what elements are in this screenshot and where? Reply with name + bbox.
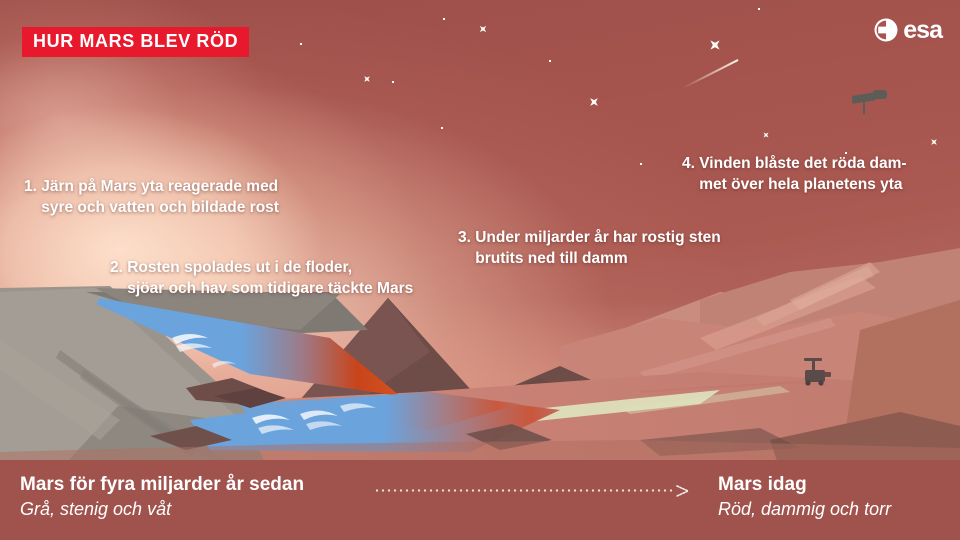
- caption-right: Mars idag Röd, dammig och torr: [718, 472, 891, 522]
- step-label-4: 4. Vinden blåste det röda dam- met över …: [682, 153, 907, 195]
- step-4-line-1: 4. Vinden blåste det röda dam-: [682, 153, 907, 174]
- infographic-canvas: HUR MARS BLEV RÖD esa 1. Järn på Mars yt…: [0, 0, 960, 540]
- step-1-line-1: 1. Järn på Mars yta reagerade med: [24, 176, 279, 197]
- caption-left-heading: Mars för fyra miljarder år sedan: [20, 472, 304, 497]
- esa-circle-e-icon: [872, 16, 900, 44]
- caption-left: Mars för fyra miljarder år sedan Grå, st…: [20, 472, 304, 522]
- step-label-1: 1. Järn på Mars yta reagerade med syre o…: [24, 176, 279, 218]
- esa-wordmark: esa: [903, 16, 942, 44]
- step-label-2: 2. Rosten spolades ut i de floder, sjöar…: [110, 257, 413, 299]
- esa-logo[interactable]: esa: [872, 16, 942, 44]
- step-2-line-2: sjöar och hav som tidigare täckte Mars: [110, 278, 413, 299]
- step-3-line-2: brutits ned till damm: [458, 248, 721, 269]
- step-3-line-1: 3. Under miljarder år har rostig sten: [458, 227, 721, 248]
- caption-right-heading: Mars idag: [718, 472, 891, 497]
- step-4-line-2: met över hela planetens yta: [682, 174, 907, 195]
- caption-left-subheading: Grå, stenig och våt: [20, 497, 304, 522]
- caption-right-subheading: Röd, dammig och torr: [718, 497, 891, 522]
- step-label-3: 3. Under miljarder år har rostig sten br…: [458, 227, 721, 269]
- title-banner: HUR MARS BLEV RÖD: [22, 27, 249, 57]
- connector-arrow-icon: [676, 484, 690, 496]
- connector-dotted-line: [374, 489, 674, 492]
- step-2-line-1: 2. Rosten spolades ut i de floder,: [110, 257, 413, 278]
- step-1-line-2: syre och vatten och bildade rost: [24, 197, 279, 218]
- title-text: HUR MARS BLEV RÖD: [33, 31, 238, 51]
